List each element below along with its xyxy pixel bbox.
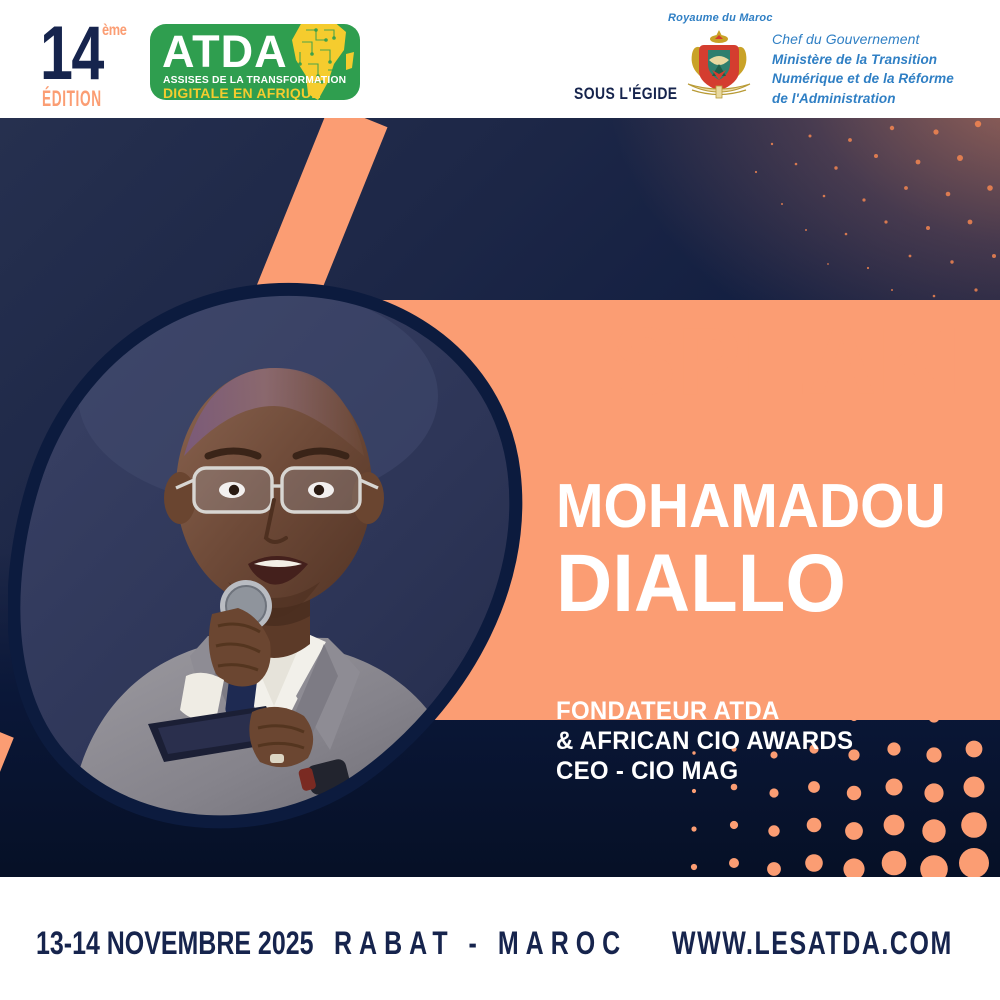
edition-badge: 14 ème ÉDITION (34, 12, 146, 112)
atda-tagline-line2: DIGITALE EN AFRIQUE (163, 85, 321, 100)
speaker-last-name: DIALLO (556, 542, 958, 626)
patronage-label: SOUS L'ÉGIDE (574, 84, 678, 104)
speaker-role-line-2: & AFRICAN CIO AWARDS (556, 726, 853, 756)
speaker-name-block: MOHAMADOU DIALLO (556, 476, 980, 626)
speaker-role-line-1: FONDATEUR ATDA (556, 696, 853, 726)
speaker-portrait-illustration (8, 276, 528, 836)
header-bar: 14 ème ÉDITION (0, 0, 1000, 118)
ministry-line-3: Numérique et de la Réforme (772, 69, 992, 89)
speaker-photo-blob (8, 276, 528, 836)
speaker-headline: SPEAKER (612, 314, 1000, 410)
ministry-text: Chef du Gouvernement Ministère de la Tra… (772, 30, 992, 108)
atda-acronym: ATDA (162, 29, 288, 74)
edition-suffix: ème (102, 22, 126, 40)
ministry-line-4: de l'Administration (772, 89, 992, 109)
ministry-line-1: Chef du Gouvernement (772, 30, 992, 50)
morocco-coat-of-arms-icon (678, 26, 760, 110)
kingdom-label: Royaume du Maroc (668, 12, 773, 24)
event-location: RABAT - MAROC (334, 925, 627, 962)
speaker-role-block: FONDATEUR ATDA & AFRICAN CIO AWARDS CEO … (556, 696, 853, 786)
speaker-announcement-poster: 14 ème ÉDITION (0, 0, 1000, 1000)
edition-number: 14 (40, 16, 103, 92)
edition-label: ÉDITION (42, 86, 102, 112)
event-website[interactable]: WWW.LESATDA.COM (672, 925, 953, 962)
footer-bar: 13-14 NOVEMBRE 2025 RABAT - MAROC WWW.LE… (0, 877, 1000, 1000)
event-dates: 13-14 NOVEMBRE 2025 (36, 925, 313, 962)
atda-logo[interactable]: ATDA ASSISES DE LA TRANSFORMATION DIGITA… (150, 24, 360, 100)
speaker-first-name: MOHAMADOU (556, 476, 946, 538)
poster-stage: SPEAKER (0, 118, 1000, 877)
speaker-role-line-3: CEO - CIO MAG (556, 756, 853, 786)
ministry-line-2: Ministère de la Transition (772, 50, 992, 70)
